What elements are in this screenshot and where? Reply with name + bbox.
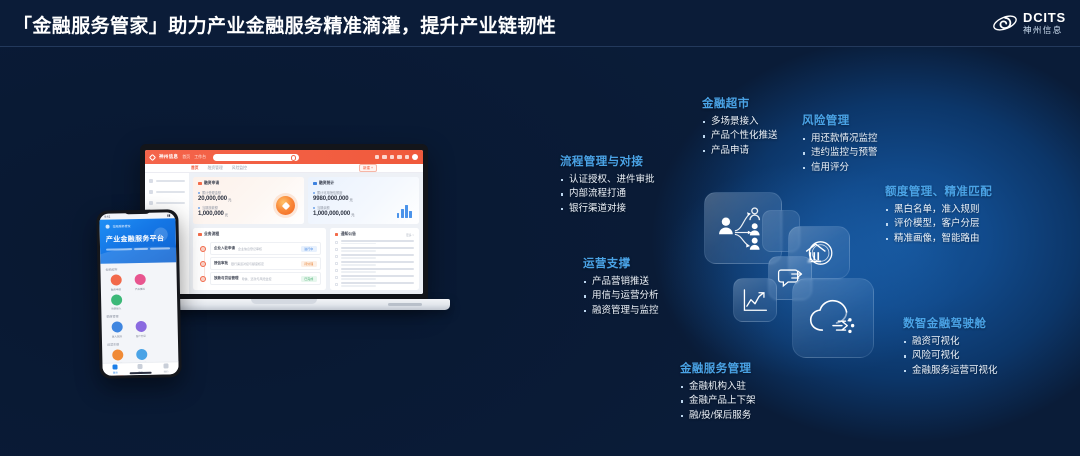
block-operations-support: 运营支撑 产品营销推送 用信与运营分析 融资管理与监控 [583,255,659,318]
user-icon [163,363,168,368]
notice-item[interactable] [335,247,414,251]
status-time: 9:41 [104,215,110,219]
home-icon [149,179,153,183]
doc-icon [335,269,338,272]
block-list: 多场景接入 产品个性化推送 产品申请 [702,115,778,158]
tab-label: 我的 [164,369,169,373]
metric: 累计可用授信额度 9980,000,000 元 [313,190,414,202]
help-icon[interactable] [405,155,410,160]
list-item: 银行渠道对接 [560,202,655,216]
doc-icon [335,248,338,251]
metric-value: 1,000,000,000 [313,211,350,217]
metric-unit: 元 [351,212,354,217]
metric-unit: 元 [225,212,228,217]
app-tile[interactable]: 客户分层 [131,321,151,338]
card-accent-icon [313,182,317,186]
phone-mockup: 9:41 ▮▮ 金融服务管家 产业金融服务平台 金融超市 融资申请 [96,209,182,379]
app-tile[interactable]: 融资申请 [106,274,126,291]
header-bar: 「金融服务管家」助力产业金融服务精准滴灌，提升产业链韧性 DCITS 神州信息 [0,0,1080,47]
lower-panel-row: 业务流程 企业入驻申请 企业信息登记审核 进行中 [193,228,419,290]
block-list: 黑白名单，准入规则 评价模型，客户分层 精准画像，智能路由 [885,203,992,246]
financing-icon [149,190,153,194]
step-name: 企业入驻申请 [214,246,235,251]
card-accent-icon [198,182,202,186]
app-label: 产品推送 [135,286,145,290]
app-label: 融资申请 [111,287,121,291]
app-search-input[interactable] [213,154,299,161]
list-item: 金融服务运营可视化 [903,364,998,378]
list-item: 风险可视化 [903,349,998,363]
step-status-badge: 待处理 [301,261,317,267]
card-title-label: 融资申请 [204,181,219,186]
step-desc: 用信、还款与风险监控 [242,277,272,281]
logo-name: DCITS [1023,11,1066,24]
block-financial-service-management: 金融服务管理 金融机构入驻 金融产品上下架 融/投/保后服务 [680,360,756,423]
step-body: 企业入驻申请 企业信息登记审核 进行中 [210,242,321,255]
laptop-notch [251,299,317,304]
credit-analysis-icon [136,349,147,360]
phone-section-finmart: 金融超市 融资申请 产品推送 场景接入 [100,262,177,311]
metric-value: 20,000,000 [198,196,227,202]
logo-subtitle: 神州信息 [1023,26,1066,35]
flow-step-list: 企业入驻申请 企业信息登记审核 进行中 授信审批 银行渠道 [198,241,321,286]
block-list: 金融机构入驻 金融产品上下架 融/投/保后服务 [680,380,756,423]
section-title: 金融超市 [105,266,171,271]
app-tile[interactable]: 准入规则 [107,321,127,338]
galaxy-swirl-icon [992,10,1018,36]
tab-financing[interactable]: 融资管理 [208,166,223,171]
notice-item[interactable] [335,240,414,244]
list-item: 多场景接入 [702,115,778,129]
laptop-app-tabs: 首页 融资管理 风险监控 新建 + [145,164,423,173]
metric-value: 9980,000,000 [313,196,349,202]
phone-hero-banner: 金融服务管家 产业金融服务平台 [99,218,176,264]
central-icon-cluster [700,188,890,364]
block-financial-supermarket: 金融超市 多场景接入 产品个性化推送 产品申请 [702,95,778,158]
step-marker-icon [200,276,206,282]
phone-tab-mine[interactable]: 我的 [153,362,179,375]
block-title: 运营支撑 [583,255,659,271]
metric-value: 1,000,000 [198,211,224,217]
app-tile[interactable]: 产品推送 [130,274,150,291]
block-quota-management: 额度管理、精准匹配 黑白名单，准入规则 评价模型，客户分层 精准画像，智能路由 [885,183,992,246]
flow-step[interactable]: 授信审批 银行渠道对接与额度核定 待处理 [200,257,321,270]
summary-card-row: 融资申请 累计受理金额 20,000,000 元 当期放款额 [193,177,419,224]
block-digital-finance-cockpit: 数智金融驾驶舱 融资可视化 风险可视化 金融服务运营可视化 [903,315,998,378]
list-item: 评价模型，客户分层 [885,217,992,231]
risk-icon [149,201,153,205]
laptop-app-topbar: 神州信息 首页 工作台 [145,150,423,164]
product-push-icon [134,274,145,285]
step-desc: 银行渠道对接与额度核定 [231,262,264,266]
app-nav-home[interactable]: 首页 [182,154,190,160]
doc-icon [335,262,338,265]
list-item: 融/投/保后服务 [680,409,756,423]
tab-home[interactable]: 首页 [191,166,199,171]
message-icon[interactable] [397,155,402,160]
metric-label: 累计可用授信额度 [313,190,414,195]
block-title: 风险管理 [802,112,878,128]
panel-accent-icon [335,233,339,237]
app-grid: 融资申请 产品推送 场景接入 [106,273,173,311]
panel-title: 业务流程 [198,232,321,237]
block-list: 融资可视化 风险可视化 金融服务运营可视化 [903,335,998,378]
list-item: 产品个性化推送 [702,129,778,143]
panel-accent-icon [198,233,202,237]
card-title: 融资申请 [198,181,299,186]
sidebar-item-label [156,202,185,205]
hero-nav-label: 金融服务管家 [113,224,131,228]
step-status-badge: 已完成 [301,276,317,282]
notice-item[interactable] [335,282,414,286]
list-item: 黑白名单，准入规则 [885,203,992,217]
phone-notch [124,210,150,215]
business-flow-panel: 业务流程 企业入驻申请 企业信息登记审核 进行中 [193,228,326,290]
block-process-management: 流程管理与对接 认证授权、进件审批 内部流程打通 银行渠道对接 [560,153,655,216]
app-label: 准入规则 [112,334,122,338]
home-icon [113,364,118,369]
financing-apply-icon [110,274,121,285]
list-item: 融资可视化 [903,335,998,349]
doc-icon [335,276,338,279]
notice-panel: 通知公告 更多 > [330,228,419,290]
panel-title-label: 通知公告 [341,232,356,237]
block-title: 流程管理与对接 [560,153,655,169]
doc-icon [335,283,338,286]
metric-unit: 元 [228,197,231,202]
block-title: 金融超市 [702,95,778,111]
notice-item[interactable] [335,268,414,272]
search-icon[interactable] [382,155,387,160]
doc-icon [335,255,338,258]
metric-value-wrap: 9980,000,000 元 [313,196,414,202]
block-title: 额度管理、精准匹配 [885,183,992,199]
app-nav-workbench[interactable]: 工作台 [194,154,206,160]
scenario-access-icon [110,294,121,305]
laptop-screen: 神州信息 首页 工作台 首页 融资管理 风险监控 新建 + [145,150,423,294]
block-list: 认证授权、进件审批 内部流程打通 银行渠道对接 [560,173,655,216]
battery-icon: ▮▮ [167,213,170,217]
page-title: 「金融服务管家」助力产业金融服务精准滴灌，提升产业链韧性 [13,11,556,38]
step-body: 授信审批 银行渠道对接与额度核定 待处理 [210,257,321,270]
menu-icon[interactable] [106,225,110,229]
panel-title: 通知公告 [335,232,356,237]
notice-panel-header: 通知公告 更多 > [335,232,414,237]
step-desc: 企业信息登记审核 [238,247,262,251]
device-mockup-group: 神州信息 首页 工作台 首页 融资管理 风险监控 新建 + [96,140,456,340]
step-body: 放款与贷后管理 用信、还款与风险监控 已完成 [210,272,321,285]
app-label: 场景接入 [111,307,121,311]
list-item: 产品营销推送 [583,275,659,289]
list-item: 金融产品上下架 [680,394,756,408]
section-title: 运营支撑 [107,341,173,346]
brand-logo: DCITS 神州信息 [992,8,1066,38]
block-title: 金融服务管理 [680,360,756,376]
orange-badge-icon [276,196,295,215]
step-name: 放款与贷后管理 [214,276,239,281]
app-brand: 神州信息 [159,154,178,160]
section-title: 额度管理 [106,313,172,318]
notice-item[interactable] [335,275,414,279]
card-title-label: 融资统计 [319,181,334,186]
avatar[interactable] [412,154,418,160]
doc-icon [335,241,338,244]
block-title: 数智金融驾驶舱 [903,315,998,331]
step-marker-icon [200,246,206,252]
summary-card-financing-stats[interactable]: 融资统计 累计可用授信额度 9980,000,000 元 当期余额 [308,177,419,224]
cloud-computing-icon [808,298,858,339]
bell-icon[interactable] [375,155,380,160]
list-item: 违约监控与预警 [802,146,878,160]
customer-tier-icon [135,321,146,332]
phone-section-quota: 额度管理 准入规则 客户分层 [101,309,178,338]
marketing-push-icon [112,349,123,360]
list-item: 认证授权、进件审批 [560,173,655,187]
phone-tab-bar: 首页 服务 我的 [102,361,178,376]
app-topbar-icons [375,154,419,160]
list-item: 金融机构入驻 [680,380,756,394]
metric-unit: 元 [350,197,353,202]
card-cloud-computing [792,278,874,358]
laptop-app-body: 融资申请 累计受理金额 20,000,000 元 当期放款额 [145,173,423,294]
flow-step[interactable]: 放款与贷后管理 用信、还款与风险监控 已完成 [200,272,321,285]
list-item: 信用评分 [802,161,878,175]
app-label: 客户分层 [136,334,146,338]
sidebar-item-financing[interactable] [149,190,185,194]
laptop-main-content: 融资申请 累计受理金额 20,000,000 元 当期放款额 [189,173,423,294]
list-item: 产品申请 [702,144,778,158]
block-list: 用还款情况监控 违约监控与预警 信用评分 [802,132,878,175]
phone-screen: 9:41 ▮▮ 金融服务管家 产业金融服务平台 金融超市 融资申请 [99,212,178,376]
metric-label: 累计受理金额 [198,190,299,195]
summary-card-financing-apply[interactable]: 融资申请 累计受理金额 20,000,000 元 当期放款额 [193,177,304,224]
service-icon [138,364,143,369]
panel-title-label: 业务流程 [204,232,219,237]
laptop-mockup: 神州信息 首页 工作台 首页 融资管理 风险监控 新建 + [140,144,428,301]
logo-wordmark: DCITS 神州信息 [1023,11,1066,35]
card-growth-chart [733,278,777,322]
card-title: 融资统计 [313,181,414,186]
bar-chart-icon [397,205,412,218]
step-marker-icon [200,261,206,267]
block-risk-management: 风险管理 用还款情况监控 违约监控与预警 信用评分 [802,112,878,175]
list-item: 内部流程打通 [560,187,655,201]
list-item: 用信与运营分析 [583,289,659,303]
step-status-badge: 进行中 [301,246,317,252]
phone-tab-home[interactable]: 首页 [102,363,128,376]
admission-rule-icon [111,322,122,333]
notice-list [335,240,414,287]
tab-risk[interactable]: 风险监控 [232,166,247,171]
new-button[interactable]: 新建 + [359,164,377,172]
sidebar-item-home[interactable] [149,179,185,183]
list-item: 用还款情况监控 [802,132,878,146]
step-name: 授信审批 [214,261,228,266]
growth-chart-icon [742,288,768,313]
sidebar-item-label [156,191,185,194]
app-tile[interactable]: 场景接入 [106,294,126,311]
tab-label: 首页 [113,371,118,375]
sidebar-item-risk[interactable] [149,201,185,205]
notice-item[interactable] [335,254,414,258]
block-list: 产品营销推送 用信与运营分析 融资管理与监控 [583,275,659,318]
app-grid: 准入规则 客户分层 [107,320,173,338]
list-item: 精准画像，智能路由 [885,232,992,246]
grid-icon[interactable] [390,155,395,160]
laptop-foot [388,303,422,306]
notice-item[interactable] [335,261,414,265]
app-logo-icon [149,153,156,160]
flow-step[interactable]: 企业入驻申请 企业信息登记审核 进行中 [200,242,321,255]
more-link[interactable]: 更多 > [406,233,414,237]
list-item: 融资管理与监控 [583,304,659,318]
sidebar-item-label [156,180,185,183]
